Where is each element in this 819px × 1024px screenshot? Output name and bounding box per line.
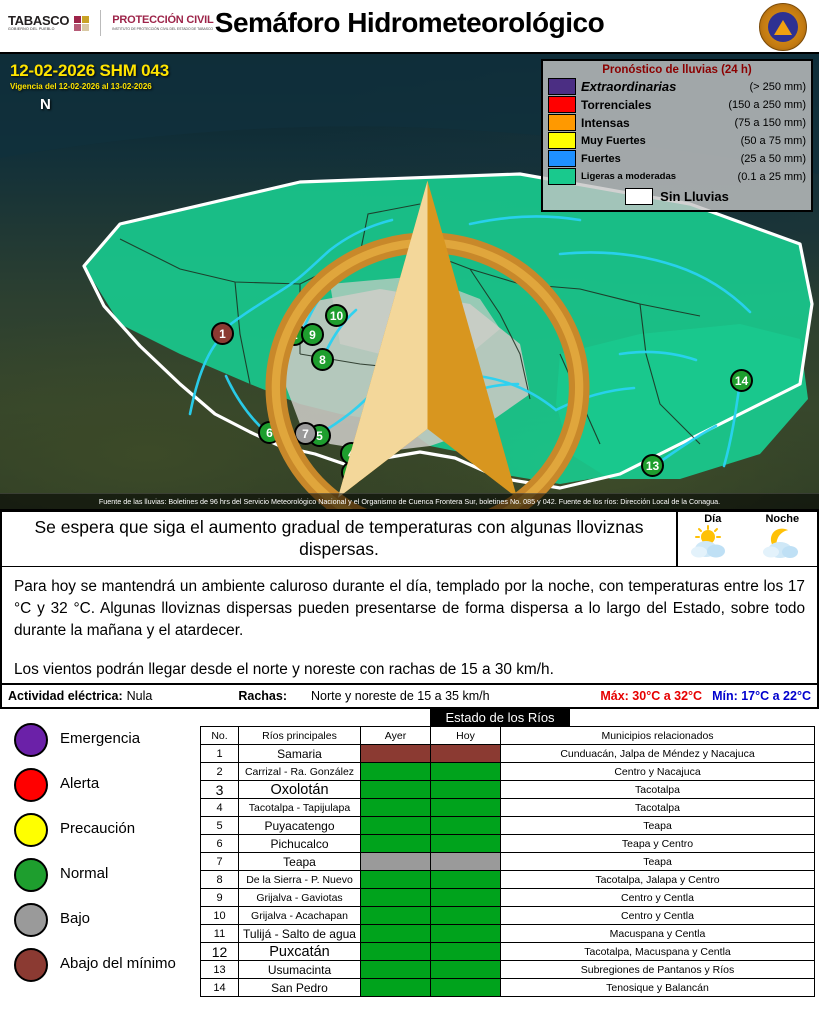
forecast-body: Para hoy se mantendrá un ambiente caluro… [0,567,819,685]
legend-range: (25 a 50 mm) [741,153,806,165]
moon-behind-cloud-icon [756,525,808,559]
bulletin-validity: Vigencia del 12-02-2026 al 13-02-2026 [10,82,169,91]
cell-no: 11 [201,925,239,943]
cell-no: 13 [201,961,239,979]
legend-item-ligeras: Ligeras a moderadas (0.1 a 25 mm) [548,168,806,185]
table-row: 1SamariaCunduacán, Jalpa de Méndez y Nac… [201,745,815,763]
status-legend-item: Normal [14,852,200,897]
status-label: Bajo [60,911,90,928]
cell-municipios: Teapa [501,817,815,835]
table-row: 5PuyacatengoTeapa [201,817,815,835]
cell-status-hoy [431,817,501,835]
col-municipios: Municipios relacionados [501,727,815,745]
cell-municipios: Tenosique y Balancán [501,979,815,997]
status-dot-emergencia [14,723,48,757]
legend-item-sin-lluvias: Sin Lluvias [548,188,806,205]
table-row: 9Grijalva - GaviotasCentro y Centla [201,889,815,907]
rivers-table: No. Ríos principales Ayer Hoy Municipios… [200,726,815,997]
cell-municipios: Teapa [501,853,815,871]
rainfall-legend: Pronóstico de lluvias (24 h) Extraordina… [541,59,813,212]
sun-behind-cloud-icon [687,525,739,559]
legend-label: Ligeras a moderadas [581,171,733,182]
min-temperature: Mín: 17°C a 22°C [712,689,811,703]
page-title: Semáforo Hidrometeorológico [0,7,819,39]
cell-status-ayer [361,889,431,907]
electric-activity-value: Nula [127,689,153,703]
cell-status-hoy [431,907,501,925]
legend-range: (0.1 a 25 mm) [738,171,806,183]
table-row: 13UsumacintaSubregiones de Pantanos y Rí… [201,961,815,979]
status-legend-item: Abajo del mínimo [14,942,200,987]
cell-status-ayer [361,799,431,817]
cell-municipios: Tacotalpa [501,781,815,799]
legend-item-muy-fuertes: Muy Fuertes (50 a 75 mm) [548,132,806,149]
table-row: 10Grijalva - AcachapanCentro y Centla [201,907,815,925]
cell-status-ayer [361,835,431,853]
col-rios: Ríos principales [239,727,361,745]
legend-label: Sin Lluvias [660,189,729,204]
cell-river: Oxolotán [239,781,361,799]
table-row: 12PuxcatánTacotalpa, Macuspana y Centla [201,943,815,961]
table-row: 6PichucalcoTeapa y Centro [201,835,815,853]
cell-river: Tulijá - Salto de agua [239,925,361,943]
cell-no: 2 [201,763,239,781]
table-header-row: No. Ríos principales Ayer Hoy Municipios… [201,727,815,745]
cell-status-hoy [431,871,501,889]
cell-status-hoy [431,925,501,943]
cell-municipios: Tacotalpa, Jalapa y Centro [501,871,815,889]
rivers-table-wrap: Estado de los Ríos No. Ríos principales … [200,709,819,985]
legend-range: (150 a 250 mm) [728,99,806,111]
cell-status-ayer [361,943,431,961]
cell-river: Teapa [239,853,361,871]
cell-status-hoy [431,799,501,817]
forecast-paragraph-1: Para hoy se mantendrá un ambiente caluro… [14,576,805,642]
lower-section: Emergencia Alerta Precaución Normal Bajo… [0,709,819,985]
cell-no: 4 [201,799,239,817]
cell-status-ayer [361,871,431,889]
status-legend-item: Precaución [14,807,200,852]
rivers-group-header: Estado de los Ríos [430,709,570,726]
forecast-paragraph-2: Los vientos podrán llegar desde el norte… [14,659,805,681]
cell-status-ayer [361,925,431,943]
gusts-value: Norte y noreste de 15 a 35 km/h [311,689,490,703]
cell-status-ayer [361,817,431,835]
legend-swatch [548,114,576,131]
legend-label: Muy Fuertes [581,135,736,147]
cell-status-ayer [361,907,431,925]
cell-municipios: Macuspana y Centla [501,925,815,943]
cell-status-ayer [361,763,431,781]
status-dot-bajo [14,903,48,937]
cell-municipios: Teapa y Centro [501,835,815,853]
cell-municipios: Cunduacán, Jalpa de Méndez y Nacajuca [501,745,815,763]
status-dot-normal [14,858,48,892]
cell-status-hoy [431,853,501,871]
status-label: Normal [60,866,108,883]
cell-status-hoy [431,781,501,799]
table-row: 2Carrizal - Ra. GonzálezCentro y Nacajuc… [201,763,815,781]
cell-municipios: Centro y Centla [501,907,815,925]
map-source-note: Fuente de las lluvias: Boletines de 96 h… [0,493,819,509]
status-label: Precaución [60,821,135,838]
legend-title: Pronóstico de lluvias (24 h) [548,64,806,76]
cell-river: San Pedro [239,979,361,997]
compass-rose-icon: N [18,98,80,164]
day-night-panel: Día Noche [678,512,819,566]
cell-status-ayer [361,979,431,997]
electric-activity-label: Actividad eléctrica: [8,689,123,703]
status-label: Abajo del mínimo [60,956,176,973]
cell-municipios: Centro y Centla [501,889,815,907]
cell-status-ayer [361,961,431,979]
cell-status-ayer [361,853,431,871]
cell-no: 8 [201,871,239,889]
headline-band: Se espera que siga el aumento gradual de… [0,509,819,567]
legend-label: Torrenciales [581,98,723,112]
legend-swatch [625,188,653,205]
gusts-label: Rachas: [238,689,287,703]
day-label: Día [704,513,721,525]
cell-no: 5 [201,817,239,835]
legend-item-intensas: Intensas (75 a 150 mm) [548,114,806,131]
status-dot-precaucion [14,813,48,847]
status-dot-abajo-del-minimo [14,948,48,982]
night-cell: Noche [748,512,818,566]
rivers-group-header-row: Estado de los Ríos [200,709,815,726]
legend-item-torrenciales: Torrenciales (150 a 250 mm) [548,96,806,113]
table-row: 7TeapaTeapa [201,853,815,871]
cell-status-hoy [431,763,501,781]
legend-item-fuertes: Fuertes (25 a 50 mm) [548,150,806,167]
cell-river: Pichucalco [239,835,361,853]
table-row: 14San PedroTenosique y Balancán [201,979,815,997]
river-status-legend: Emergencia Alerta Precaución Normal Bajo… [0,709,200,985]
day-cell: Día [678,512,748,566]
table-row: 3OxolotánTacotalpa [201,781,815,799]
col-ayer: Ayer [361,727,431,745]
cell-status-hoy [431,943,501,961]
status-legend-item: Alerta [14,762,200,807]
table-row: 4Tacotalpa - TapijulapaTacotalpa [201,799,815,817]
cell-municipios: Tacotalpa, Macuspana y Centla [501,943,815,961]
status-label: Emergencia [60,731,140,748]
cell-status-ayer [361,745,431,763]
cell-municipios: Centro y Nacajuca [501,763,815,781]
cell-municipios: Tacotalpa [501,799,815,817]
legend-swatch [548,78,576,95]
cell-status-hoy [431,889,501,907]
cell-river: De la Sierra - P. Nuevo [239,871,361,889]
max-temperature: Máx: 30°C a 32°C [600,689,702,703]
cell-no: 10 [201,907,239,925]
cell-status-ayer [361,781,431,799]
cell-river: Puyacatengo [239,817,361,835]
cell-status-hoy [431,835,501,853]
status-legend-item: Bajo [14,897,200,942]
cell-river: Grijalva - Acachapan [239,907,361,925]
legend-swatch [548,96,576,113]
cell-no: 14 [201,979,239,997]
night-label: Noche [765,513,799,525]
cell-no: 9 [201,889,239,907]
legend-label: Fuertes [581,153,736,165]
cell-no: 7 [201,853,239,871]
status-dot-alerta [14,768,48,802]
legend-range: (50 a 75 mm) [741,135,806,147]
legend-swatch [548,168,576,185]
col-no: No. [201,727,239,745]
cell-municipios: Subregiones de Pantanos y Ríos [501,961,815,979]
cell-status-hoy [431,961,501,979]
cell-river: Tacotalpa - Tapijulapa [239,799,361,817]
bulletin-date-stamp: 12-02-2026 SHM 043 Vigencia del 12-02-20… [10,61,169,91]
cell-status-hoy [431,979,501,997]
status-label: Alerta [60,776,99,793]
cell-river: Puxcatán [239,943,361,961]
cell-river: Usumacinta [239,961,361,979]
headline-text: Se espera que siga el aumento gradual de… [0,512,678,566]
bulletin-page: TABASCO GOBIERNO DEL PUEBLO PROTECCIÓN C… [0,0,819,1024]
legend-item-extraordinarias: Extraordinarias (> 250 mm) [548,78,806,95]
cell-status-hoy [431,745,501,763]
legend-swatch [548,132,576,149]
conditions-strip: Actividad eléctrica: Nula Rachas: Norte … [0,685,819,709]
status-legend-item: Emergencia [14,717,200,762]
proteccion-civil-seal-icon [759,3,807,51]
bulletin-code: 12-02-2026 SHM 043 [10,61,169,81]
cell-no: 6 [201,835,239,853]
cell-no: 12 [201,943,239,961]
legend-range: (75 a 150 mm) [734,117,806,129]
cell-river: Carrizal - Ra. González [239,763,361,781]
col-hoy: Hoy [431,727,501,745]
legend-label: Extraordinarias [581,79,744,94]
page-header: TABASCO GOBIERNO DEL PUEBLO PROTECCIÓN C… [0,0,819,52]
legend-swatch [548,150,576,167]
legend-range: (> 250 mm) [749,81,806,93]
cell-no: 1 [201,745,239,763]
rivers-table-body: 1SamariaCunduacán, Jalpa de Méndez y Nac… [201,745,815,997]
cell-no: 3 [201,781,239,799]
legend-label: Intensas [581,116,729,130]
table-row: 8De la Sierra - P. NuevoTacotalpa, Jalap… [201,871,815,889]
rainfall-forecast-map: 12-02-2026 SHM 043 Vigencia del 12-02-20… [0,52,819,509]
cell-river: Samaria [239,745,361,763]
table-row: 11Tulijá - Salto de aguaMacuspana y Cent… [201,925,815,943]
cell-river: Grijalva - Gaviotas [239,889,361,907]
